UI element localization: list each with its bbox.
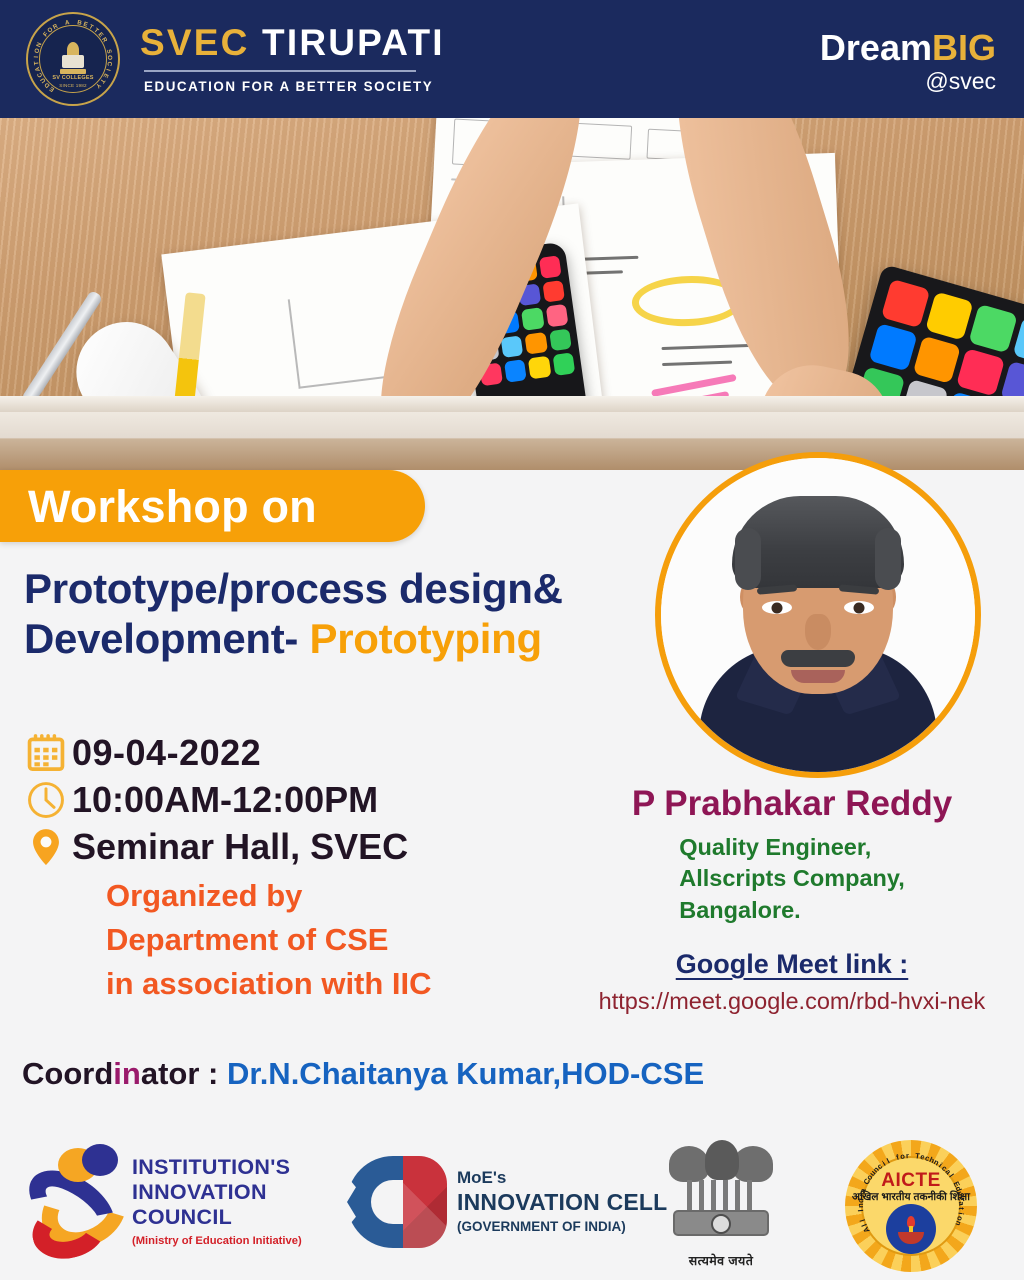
event-date: 09-04-2022 — [72, 733, 261, 773]
coordinator-label: Coordinator : — [22, 1056, 227, 1091]
organizer-line-1: Organized by — [106, 874, 620, 918]
iic-subtitle: (Ministry of Education Initiative) — [132, 1235, 302, 1247]
crest-caption: SV COLLEGES — [40, 75, 106, 81]
crest-inner: SV COLLEGES SINCE 1982 — [39, 25, 107, 93]
google-meet-label: Google Meet link : — [560, 950, 1024, 980]
speaker-moustache — [781, 650, 855, 667]
google-meet-link[interactable]: https://meet.google.com/rbd-hvxi-nek — [560, 989, 1024, 1015]
coordinator-label-b: ator : — [141, 1056, 227, 1091]
brand-lockup: SVEC TIRUPATI EDUCATION FOR A BETTER SOC… — [140, 24, 445, 94]
organizer-line-2: Department of CSE — [106, 918, 620, 962]
organizer-line-3: in association with IIC — [106, 962, 620, 1006]
event-poster: EDUCATION FOR A BETTER SOCIETY SV COLLEG… — [0, 0, 1024, 1280]
brand-tagline: EDUCATION FOR A BETTER SOCIETY — [144, 79, 445, 94]
aicte-logo: All India Council for Technical Educatio… — [845, 1140, 977, 1272]
brand-tirupati: TIRUPATI — [262, 22, 445, 63]
aicte-gear-icon: All India Council for Technical Educatio… — [845, 1140, 977, 1272]
mic-line-3: (GOVERNMENT OF INDIA) — [457, 1218, 667, 1236]
speaker-affiliation-3: Bangalore. — [679, 895, 904, 926]
speaker-info: P Prabhakar Reddy Quality Engineer, Alls… — [560, 784, 1024, 1014]
mic-logo: MoE's INNOVATION CELL (GOVERNMENT OF IND… — [345, 1154, 667, 1250]
coordinator-line: Coordinator : Dr.N.Chaitanya Kumar,HOD-C… — [22, 1058, 704, 1089]
workshop-badge-label: Workshop on — [28, 484, 317, 529]
calendar-icon — [20, 732, 72, 774]
workshop-badge: Workshop on — [0, 470, 425, 542]
brand-title: SVEC TIRUPATI — [140, 24, 445, 61]
coordinator-label-mid: in — [113, 1056, 141, 1091]
iic-logo: INSTITUTION'S INNOVATION COUNCIL (Minist… — [18, 1142, 302, 1260]
coordinator-name: Dr.N.Chaitanya Kumar,HOD-CSE — [227, 1056, 704, 1091]
crest-caption-year: SINCE 1982 — [40, 83, 106, 88]
detail-row-date: 09-04-2022 — [20, 732, 620, 774]
gear-brain-icon — [345, 1154, 445, 1250]
mic-line-2: INNOVATION CELL — [457, 1189, 667, 1217]
dreambig-logo: DreamBIG @svec — [820, 30, 996, 93]
speaker-name: P Prabhakar Reddy — [560, 784, 1024, 823]
dreambig-big: BIG — [932, 27, 996, 68]
title-line-1: Prototype/process design& — [24, 564, 639, 614]
iic-wordmark: INSTITUTION'S INNOVATION COUNCIL (Minist… — [132, 1155, 302, 1247]
poster-header: EDUCATION FOR A BETTER SOCIETY SV COLLEG… — [0, 0, 1024, 118]
aicte-name: AICTE — [845, 1170, 977, 1192]
dreambig-handle: @svec — [820, 70, 996, 93]
iic-line-2: INNOVATION — [132, 1180, 302, 1205]
event-details: 09-04-2022 10:00AM-12:00PM — [20, 732, 620, 1006]
detail-row-time: 10:00AM-12:00PM — [20, 779, 620, 821]
title-line-2-accent: Prototyping — [310, 615, 542, 662]
location-pin-icon — [20, 826, 72, 868]
title-line-2: Development- Prototyping — [24, 614, 639, 664]
emblem-motto: सत्यमेव जयते — [689, 1252, 753, 1269]
brand-svec: SVEC — [140, 22, 250, 63]
speaker-affiliation-1: Quality Engineer, — [679, 832, 904, 863]
clock-icon — [20, 779, 72, 821]
desk-lip — [0, 396, 1024, 412]
dreambig-dream: Dream — [820, 27, 932, 68]
coordinator-label-a: Coord — [22, 1056, 113, 1091]
dreambig-wordmark: DreamBIG — [820, 30, 996, 66]
workshop-title: Prototype/process design& Development- P… — [24, 564, 639, 664]
brand-divider — [144, 70, 416, 72]
aicte-lamp-icon — [898, 1216, 924, 1246]
speaker-photo — [655, 452, 981, 778]
iic-line-1: INSTITUTION'S — [132, 1155, 302, 1180]
organizer-block: Organized by Department of CSE in associ… — [106, 874, 620, 1006]
aicte-emblem-circle — [886, 1204, 936, 1254]
crest-lamp-icon — [60, 42, 86, 76]
event-time: 10:00AM-12:00PM — [72, 780, 378, 820]
event-venue: Seminar Hall, SVEC — [72, 827, 408, 867]
college-crest-icon: EDUCATION FOR A BETTER SOCIETY SV COLLEG… — [26, 12, 120, 106]
national-emblem-logo: सत्यमेव जयते — [655, 1140, 787, 1269]
footer-logos: INSTITUTION'S INNOVATION COUNCIL (Minist… — [0, 1132, 1024, 1280]
mic-wordmark: MoE's INNOVATION CELL (GOVERNMENT OF IND… — [457, 1168, 667, 1236]
hero-photo — [0, 118, 1024, 470]
detail-row-venue: Seminar Hall, SVEC — [20, 826, 620, 868]
institution-branding: EDUCATION FOR A BETTER SOCIETY SV COLLEG… — [0, 12, 445, 106]
speaker-affiliation-2: Allscripts Company, — [679, 863, 904, 894]
title-line-2-prefix: Development- — [24, 615, 298, 662]
iic-line-3: COUNCIL — [132, 1205, 302, 1230]
ashoka-lion-capital-icon — [655, 1140, 787, 1248]
mic-line-1: MoE's — [457, 1168, 667, 1188]
speaker-affiliation: Quality Engineer, Allscripts Company, Ba… — [679, 832, 904, 926]
iic-swoosh-icon — [18, 1142, 122, 1260]
